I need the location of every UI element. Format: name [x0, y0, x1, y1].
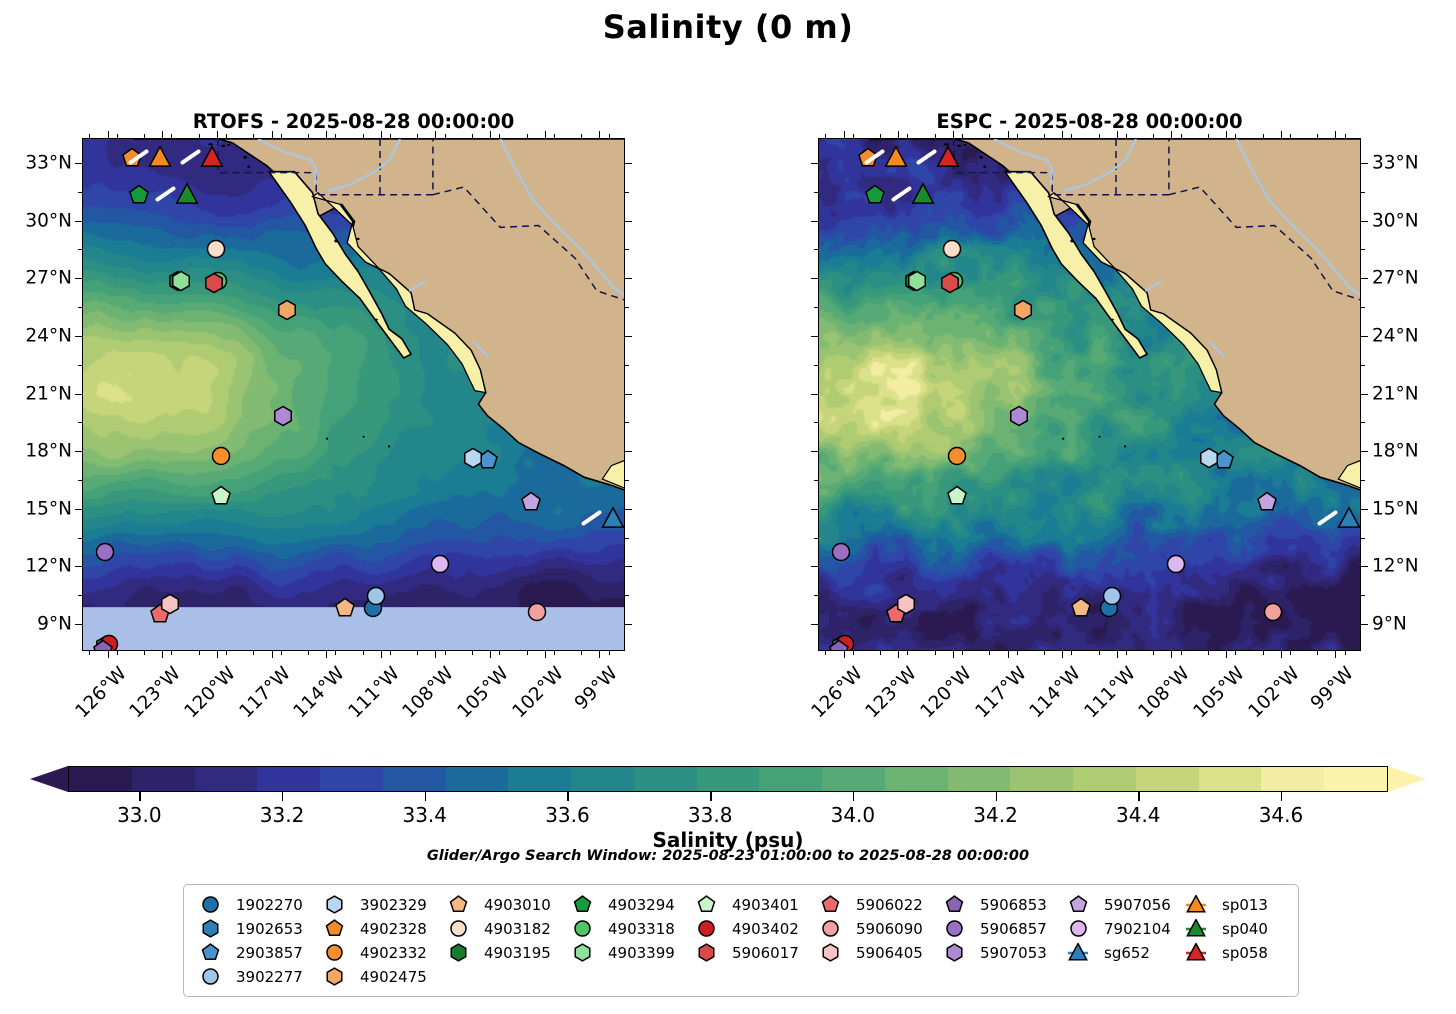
lon-tick [272, 131, 273, 138]
lon-tick-minor [363, 134, 364, 138]
legend-marker-circle-icon [314, 943, 354, 962]
lat-tick [625, 336, 632, 337]
lon-tick [599, 131, 600, 138]
legend-column: sp013sp040sp058 [1176, 893, 1286, 988]
lon-tick-minor [1044, 134, 1045, 138]
legend-entry-5906853[interactable]: 5906853 [934, 893, 1058, 916]
observation-marker-3902329[interactable] [1198, 447, 1219, 468]
page-title: Salinity (0 m) [0, 8, 1456, 46]
legend-marker-circle-icon [438, 919, 478, 938]
lat-tick [625, 566, 632, 567]
lon-tick [1008, 651, 1009, 658]
legend-entry-4902328[interactable]: 4902328 [314, 917, 438, 940]
legend-entry-4903401[interactable]: 4903401 [686, 893, 810, 916]
colorbar-segment [759, 767, 822, 791]
legend-entry-5907056[interactable]: 5907056 [1058, 893, 1176, 916]
lon-tick-minor [417, 651, 418, 655]
legend-label: sp013 [1216, 896, 1268, 914]
lon-tick-minor [1099, 651, 1100, 655]
lon-tick-minor [1290, 134, 1291, 138]
colorbar-tick-label: 33.4 [402, 803, 447, 827]
lon-tick-minor [1317, 134, 1318, 138]
legend-entry-sp013[interactable]: sp013 [1176, 893, 1286, 916]
observation-marker-5906405[interactable] [160, 593, 181, 614]
colorbar-segment [697, 767, 760, 791]
legend-label: 4903402 [726, 920, 799, 938]
observation-marker-5906853[interactable] [93, 640, 114, 651]
lon-tick [435, 131, 436, 138]
colorbar-tick [853, 792, 854, 801]
lon-tick [1171, 131, 1172, 138]
observation-marker-4903294[interactable] [129, 184, 150, 205]
legend-label: 5906022 [850, 896, 923, 914]
legend-marker-pentagon-icon [934, 895, 974, 914]
lat-label: 12°N [1372, 556, 1419, 577]
colorbar-segment [1136, 767, 1199, 791]
colorbar-segment [257, 767, 320, 791]
legend-entry-4903182[interactable]: 4903182 [438, 917, 562, 940]
legend-entry-3902329[interactable]: 3902329 [314, 893, 438, 916]
lat-tick [75, 451, 82, 452]
lon-tick [1171, 651, 1172, 658]
lon-tick-minor [335, 134, 336, 138]
colorbar-segment [69, 767, 132, 791]
legend-entry-4903318[interactable]: 4903318 [562, 917, 686, 940]
observation-marker-5906405[interactable] [896, 593, 917, 614]
lon-tick [217, 651, 218, 658]
lon-tick-minor [554, 651, 555, 655]
lat-tick-minor [625, 480, 629, 481]
observation-marker-5906017[interactable] [940, 273, 961, 294]
lon-tick-minor [1181, 651, 1182, 655]
colorbar-tick-label: 33.8 [688, 803, 733, 827]
lon-tick-minor [89, 134, 90, 138]
lat-tick [1361, 451, 1368, 452]
legend-marker-pentagon-icon [1058, 895, 1098, 914]
colorbar-segment [320, 767, 383, 791]
colorbar-segment [1261, 767, 1324, 791]
lat-tick [811, 624, 818, 625]
lon-tick [898, 651, 899, 658]
lat-tick-minor [78, 422, 82, 423]
legend-column: 59070567902104sg652 [1058, 893, 1176, 988]
lat-label: 15°N [0, 498, 72, 519]
observation-marker-5907056[interactable] [1257, 492, 1278, 513]
lon-tick-minor [499, 651, 500, 655]
observation-marker-4902475[interactable] [1013, 300, 1034, 321]
panel-title-espc: ESPC - 2025-08-28 00:00:00 [818, 110, 1361, 133]
colorbar-tick [567, 792, 568, 801]
lon-tick-minor [171, 134, 172, 138]
colorbar-tick-label: 33.0 [117, 803, 162, 827]
colorbar-extend-high-icon [1388, 766, 1426, 792]
observation-marker-4903182[interactable] [206, 238, 227, 259]
observation-marker-5906017[interactable] [204, 273, 225, 294]
lon-tick-minor [853, 134, 854, 138]
colorbar-tick [425, 792, 426, 801]
colorbar-segment [132, 767, 195, 791]
lat-tick-minor [814, 538, 818, 539]
lon-tick-minor [1126, 651, 1127, 655]
legend-entry-5906017[interactable]: 5906017 [686, 941, 810, 964]
observation-marker-5907053[interactable] [1009, 405, 1030, 426]
colorbar-tick [139, 792, 140, 801]
legend-entry-sp058[interactable]: sp058 [1176, 941, 1286, 964]
colorbar-tick-label: 33.6 [545, 803, 590, 827]
colorbar-tick-label: 34.4 [1116, 803, 1161, 827]
legend-marker-circle-icon [1058, 919, 1098, 938]
observation-marker-4903182[interactable] [942, 238, 963, 259]
lon-tick [1008, 131, 1009, 138]
lat-label: 24°N [1372, 325, 1419, 346]
legend-entry-sg652[interactable]: sg652 [1058, 941, 1176, 964]
lat-tick [625, 394, 632, 395]
legend-entry-4903402[interactable]: 4903402 [686, 917, 810, 940]
colorbar-tick-label: 33.2 [260, 803, 305, 827]
lon-tick-minor [253, 134, 254, 138]
lon-tick [1281, 651, 1282, 658]
legend-label: 4902328 [354, 920, 427, 938]
lat-tick [1361, 278, 1368, 279]
observation-marker-4903399[interactable] [171, 271, 192, 292]
colorbar-tick-label: 34.2 [973, 803, 1018, 827]
legend-column: 1902270190265329038573902277 [190, 893, 314, 988]
lon-tick [162, 131, 163, 138]
observation-marker-5907053[interactable] [273, 405, 294, 426]
lon-tick-minor [1017, 651, 1018, 655]
legend-marker-glider-icon [1058, 943, 1098, 963]
colorbar-segment [1199, 767, 1262, 791]
lon-tick [953, 131, 954, 138]
lon-tick-minor [907, 134, 908, 138]
lon-tick [1117, 651, 1118, 658]
legend-marker-circle-icon [686, 919, 726, 938]
lon-tick-minor [1317, 651, 1318, 655]
legend-label: sp058 [1216, 944, 1268, 962]
lon-tick-minor [609, 651, 610, 655]
lon-tick-minor [935, 651, 936, 655]
observation-marker-5906090[interactable] [1262, 601, 1283, 622]
lat-tick [811, 394, 818, 395]
legend-marker-pentagon-icon [686, 895, 726, 914]
legend-marker-glider-icon [1176, 919, 1216, 939]
lon-tick-minor [417, 134, 418, 138]
colorbar-tick [1281, 792, 1282, 801]
panel-title-rtofs: RTOFS - 2025-08-28 00:00:00 [82, 110, 625, 133]
lat-tick [625, 624, 632, 625]
lon-tick-minor [308, 651, 309, 655]
colorbar-tick [1138, 792, 1139, 801]
lat-tick-minor [1361, 365, 1365, 366]
lat-tick-minor [625, 422, 629, 423]
legend-entry-5907053[interactable]: 5907053 [934, 941, 1058, 964]
legend-label: 5906405 [850, 944, 923, 962]
colorbar-tick [710, 792, 711, 801]
observation-marker-4903401[interactable] [947, 486, 968, 507]
lat-tick-minor [625, 249, 629, 250]
colorbar-segment [634, 767, 697, 791]
lon-tick-minor [1208, 651, 1209, 655]
coastline-overlay [83, 139, 625, 651]
lon-tick-minor [880, 134, 881, 138]
legend-marker-hexagon-icon [314, 967, 354, 986]
lat-tick-minor [814, 192, 818, 193]
lat-tick [811, 566, 818, 567]
lon-tick-minor [989, 651, 990, 655]
legend-marker-hexagon-icon [438, 943, 478, 962]
lon-tick-minor [226, 134, 227, 138]
observation-marker-5906853[interactable] [829, 640, 850, 651]
observation-marker-3902329[interactable] [462, 447, 483, 468]
lat-tick [625, 509, 632, 510]
lon-tick-minor [1235, 134, 1236, 138]
legend-column: 490329449033184903399 [562, 893, 686, 988]
legend-entry-5906405[interactable]: 5906405 [810, 941, 934, 964]
lat-tick [1361, 509, 1368, 510]
lon-tick-minor [144, 651, 145, 655]
lon-tick-minor [1071, 134, 1072, 138]
lat-tick [75, 624, 82, 625]
legend-entry-2903857[interactable]: 2903857 [190, 941, 314, 964]
lon-tick-minor [281, 134, 282, 138]
legend-entry-5906090[interactable]: 5906090 [810, 917, 934, 940]
observation-marker-4903010[interactable] [335, 597, 356, 618]
lat-tick-minor [78, 307, 82, 308]
lon-tick-minor [581, 651, 582, 655]
lat-label: 18°N [0, 441, 72, 462]
legend-entry-4902475[interactable]: 4902475 [314, 965, 438, 988]
map-panel-espc: ESPC - 2025-08-28 00:00:00 [818, 138, 1361, 651]
legend-column: 490340149034025906017 [686, 893, 810, 988]
lon-tick-minor [171, 651, 172, 655]
lon-tick-minor [907, 651, 908, 655]
colorbar-segment [948, 767, 1011, 791]
lat-tick-minor [1361, 595, 1365, 596]
lon-tick-minor [89, 651, 90, 655]
lat-tick [75, 221, 82, 222]
lat-tick-minor [625, 307, 629, 308]
observation-marker-4903399[interactable] [907, 271, 928, 292]
lon-tick [381, 131, 382, 138]
legend-label: 3902329 [354, 896, 427, 914]
observation-marker-5906857[interactable] [94, 542, 115, 563]
legend-marker-hexagon-icon [686, 943, 726, 962]
legend-entry-4902332[interactable]: 4902332 [314, 941, 438, 964]
map-panel-rtofs: RTOFS - 2025-08-28 00:00:00 [82, 138, 625, 651]
lon-tick [1226, 651, 1227, 658]
lon-tick-minor [962, 651, 963, 655]
legend-entry-3902277[interactable]: 3902277 [190, 965, 314, 988]
lon-tick [217, 131, 218, 138]
lat-tick [1361, 566, 1368, 567]
observation-marker-4902332[interactable] [211, 446, 232, 467]
lon-tick-minor [527, 651, 528, 655]
legend-column: 490301049031824903195 [438, 893, 562, 988]
observation-marker-3902277[interactable] [366, 586, 387, 607]
legend-marker-pentagon-icon [314, 919, 354, 938]
legend-marker-glider-icon [1176, 943, 1216, 963]
legend-marker-circle-icon [562, 919, 602, 938]
colorbar-segment [1324, 767, 1387, 791]
lon-tick-minor [308, 134, 309, 138]
lon-tick-minor [335, 651, 336, 655]
observation-marker-4903401[interactable] [211, 486, 232, 507]
legend-entry-sp040[interactable]: sp040 [1176, 917, 1286, 940]
observation-marker-7902104[interactable] [1166, 553, 1187, 574]
legend-entry-1902270[interactable]: 1902270 [190, 893, 314, 916]
legend-entry-5906022[interactable]: 5906022 [810, 893, 934, 916]
lat-tick-minor [625, 192, 629, 193]
lat-label: 9°N [0, 614, 72, 635]
lat-tick-minor [814, 307, 818, 308]
legend-marker-circle-icon [190, 967, 230, 986]
legend-label: 5906853 [974, 896, 1047, 914]
lat-tick-minor [625, 595, 629, 596]
lon-tick-minor [1235, 651, 1236, 655]
lon-tick-minor [117, 651, 118, 655]
lon-tick-minor [472, 134, 473, 138]
legend-marker-circle-icon [810, 919, 850, 938]
lat-label: 24°N [0, 325, 72, 346]
lat-tick [811, 278, 818, 279]
lat-tick-minor [78, 249, 82, 250]
observation-marker-3902277[interactable] [1102, 586, 1123, 607]
lat-tick-minor [814, 365, 818, 366]
lon-tick-minor [117, 134, 118, 138]
lon-tick [1062, 131, 1063, 138]
lon-tick-minor [1263, 134, 1264, 138]
lon-tick-minor [445, 134, 446, 138]
lon-tick-minor [609, 134, 610, 138]
lat-label: 33°N [1372, 152, 1419, 173]
lon-tick [381, 651, 382, 658]
legend-entry-4903195[interactable]: 4903195 [438, 941, 562, 964]
lon-tick-minor [199, 651, 200, 655]
observation-marker-5906857[interactable] [830, 542, 851, 563]
legend-entry-1902653[interactable]: 1902653 [190, 917, 314, 940]
legend-marker-hexagon-icon [810, 943, 850, 962]
observation-marker-sg652[interactable] [602, 508, 625, 531]
map-frame-rtofs[interactable] [82, 138, 625, 651]
lon-tick [1335, 651, 1336, 658]
lon-tick-minor [390, 651, 391, 655]
lon-tick-minor [281, 651, 282, 655]
legend-column: 590685359068575907053 [934, 893, 1058, 988]
lat-label: 21°N [0, 383, 72, 404]
legend-marker-pentagon-icon [190, 943, 230, 962]
lat-tick [811, 336, 818, 337]
legend-label: 5907056 [1098, 896, 1171, 914]
lat-tick-minor [1361, 480, 1365, 481]
observation-marker-4902332[interactable] [947, 446, 968, 467]
observation-marker-7902104[interactable] [430, 553, 451, 574]
observation-marker-4903294[interactable] [865, 184, 886, 205]
legend-label: 1902270 [230, 896, 303, 914]
lon-tick-minor [144, 134, 145, 138]
lon-tick-minor [1208, 134, 1209, 138]
observation-marker-sp058[interactable] [201, 147, 224, 170]
lat-tick [625, 278, 632, 279]
lat-tick-minor [814, 595, 818, 596]
lat-tick [625, 221, 632, 222]
observation-marker-sp040[interactable] [911, 183, 934, 206]
lon-tick-minor [363, 651, 364, 655]
lon-tick [953, 651, 954, 658]
colorbar-segment [508, 767, 571, 791]
lat-tick-minor [1361, 249, 1365, 250]
legend-marker-pentagon-icon [562, 895, 602, 914]
colorbar-gradient [68, 766, 1388, 792]
lat-tick [75, 278, 82, 279]
legend-entry-7902104[interactable]: 7902104 [1058, 917, 1176, 940]
observation-marker-sp013[interactable] [884, 147, 907, 170]
lat-label: 30°N [0, 210, 72, 231]
lat-label: 30°N [1372, 210, 1419, 231]
lon-tick-minor [825, 134, 826, 138]
lon-tick [545, 131, 546, 138]
lat-tick [811, 221, 818, 222]
lat-tick [625, 163, 632, 164]
legend-marker-pentagon-icon [810, 895, 850, 914]
observation-marker-4902475[interactable] [277, 300, 298, 321]
lat-tick [811, 509, 818, 510]
lat-tick [1361, 336, 1368, 337]
observation-marker-5907056[interactable] [521, 492, 542, 513]
legend-label: 4902475 [354, 968, 427, 986]
lon-tick [844, 131, 845, 138]
coastline-overlay [819, 139, 1361, 651]
legend-label: 5906090 [850, 920, 923, 938]
lon-tick-minor [499, 134, 500, 138]
lat-tick-minor [78, 480, 82, 481]
lat-tick-minor [78, 538, 82, 539]
lon-tick [1062, 651, 1063, 658]
legend-label: 5906857 [974, 920, 1047, 938]
legend-entry-4903010[interactable]: 4903010 [438, 893, 562, 916]
colorbar-segment [195, 767, 258, 791]
colorbar-segment [822, 767, 885, 791]
legend-entry-4903399[interactable]: 4903399 [562, 941, 686, 964]
lon-tick [545, 651, 546, 658]
legend-entry-5906857[interactable]: 5906857 [934, 917, 1058, 940]
lon-tick [162, 651, 163, 658]
lon-tick [435, 651, 436, 658]
lon-tick-minor [1153, 651, 1154, 655]
lon-tick-minor [1071, 651, 1072, 655]
observation-marker-sp058[interactable] [937, 147, 960, 170]
lon-tick-minor [935, 134, 936, 138]
legend-entry-4903294[interactable]: 4903294 [562, 893, 686, 916]
observation-marker-sp040[interactable] [175, 183, 198, 206]
colorbar-segment [1010, 767, 1073, 791]
lon-tick-minor [1153, 134, 1154, 138]
legend-marker-hexagon-icon [562, 943, 602, 962]
observation-marker-sg652[interactable] [1338, 508, 1361, 531]
colorbar-tick-label: 34.0 [831, 803, 876, 827]
colorbar-segment [571, 767, 634, 791]
lon-tick [1117, 131, 1118, 138]
observation-marker-5906090[interactable] [526, 601, 547, 622]
lat-label: 33°N [0, 152, 72, 173]
lon-tick [1226, 131, 1227, 138]
lon-tick-minor [1263, 651, 1264, 655]
lat-tick-minor [625, 538, 629, 539]
observation-marker-4903010[interactable] [1071, 597, 1092, 618]
lat-tick-minor [814, 422, 818, 423]
observation-marker-sp013[interactable] [148, 147, 171, 170]
lat-tick [1361, 163, 1368, 164]
map-frame-espc[interactable] [818, 138, 1361, 651]
